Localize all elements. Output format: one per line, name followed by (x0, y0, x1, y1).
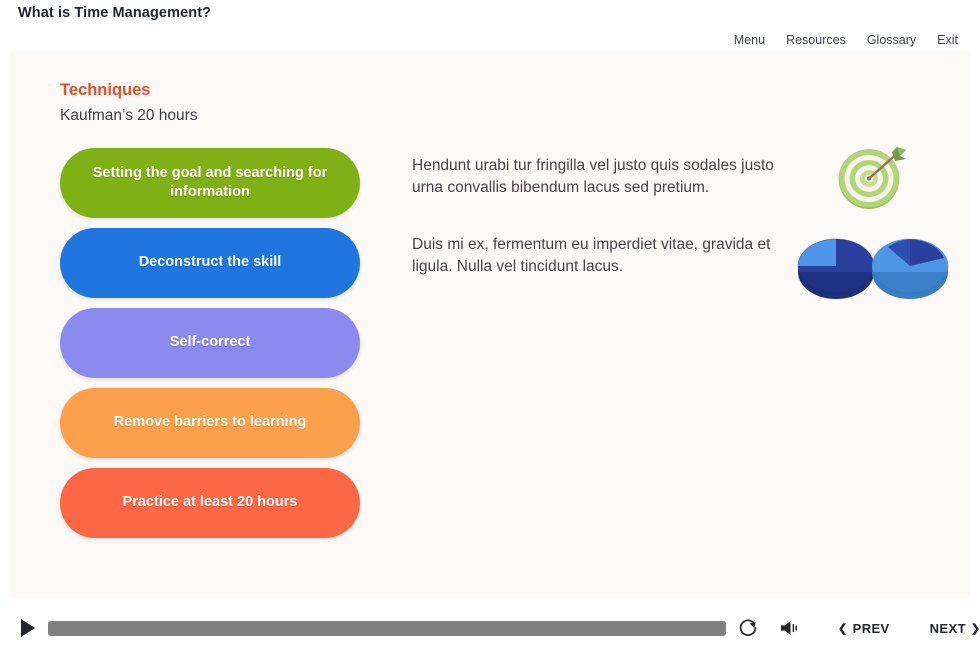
body-copy: Hendunt urabi tur fringilla vel justo qu… (412, 155, 802, 312)
nav-link-menu[interactable]: Menu (734, 33, 765, 47)
pie-charts-icon (792, 228, 952, 300)
technique-pill-label: Deconstruct the skill (139, 253, 282, 272)
chevron-right-icon: ❯ (971, 622, 980, 635)
replay-icon[interactable] (738, 618, 758, 638)
seek-bar[interactable] (48, 621, 726, 636)
technique-pill-setting-the-goal[interactable]: Setting the goal and searching for infor… (60, 148, 360, 218)
slide-panel: Techniques Kaufman’s 20 hours Setting th… (10, 50, 970, 598)
next-button-label: NEXT (930, 621, 966, 636)
prev-button[interactable]: ❮ PREV (838, 621, 890, 636)
nav-link-glossary[interactable]: Glossary (867, 33, 916, 47)
technique-pill-label: Setting the goal and searching for infor… (82, 164, 338, 203)
section-subheading: Kaufman’s 20 hours (60, 107, 198, 125)
body-paragraph-2: Duis mi ex, fermentum eu imperdiet vitae… (412, 234, 802, 279)
technique-pill-self-correct[interactable]: Self-correct (60, 308, 360, 378)
technique-pill-practice-20-hours[interactable]: Practice at least 20 hours (60, 468, 360, 538)
prev-button-label: PREV (853, 621, 890, 636)
volume-icon[interactable] (780, 619, 800, 637)
technique-pill-label: Self-correct (170, 333, 251, 352)
chevron-left-icon: ❮ (838, 622, 848, 635)
page-title: What is Time Management? (18, 5, 211, 21)
dartboard-icon (834, 138, 916, 214)
nav-link-exit[interactable]: Exit (937, 33, 958, 47)
player-bar: ❮ PREV NEXT ❯ (0, 598, 980, 658)
section-heading: Techniques (60, 81, 150, 100)
nav-link-resources[interactable]: Resources (786, 33, 846, 47)
next-button[interactable]: NEXT ❯ (930, 621, 980, 636)
technique-pill-label: Practice at least 20 hours (123, 493, 298, 512)
technique-pill-remove-barriers[interactable]: Remove barriers to learning (60, 388, 360, 458)
technique-pill-label: Remove barriers to learning (114, 413, 307, 432)
top-navigation: Menu Resources Glossary Exit (734, 33, 958, 47)
play-icon[interactable] (20, 619, 36, 637)
body-paragraph-1: Hendunt urabi tur fringilla vel justo qu… (412, 155, 802, 200)
technique-list: Setting the goal and searching for infor… (60, 148, 360, 548)
technique-pill-deconstruct-the-skill[interactable]: Deconstruct the skill (60, 228, 360, 298)
